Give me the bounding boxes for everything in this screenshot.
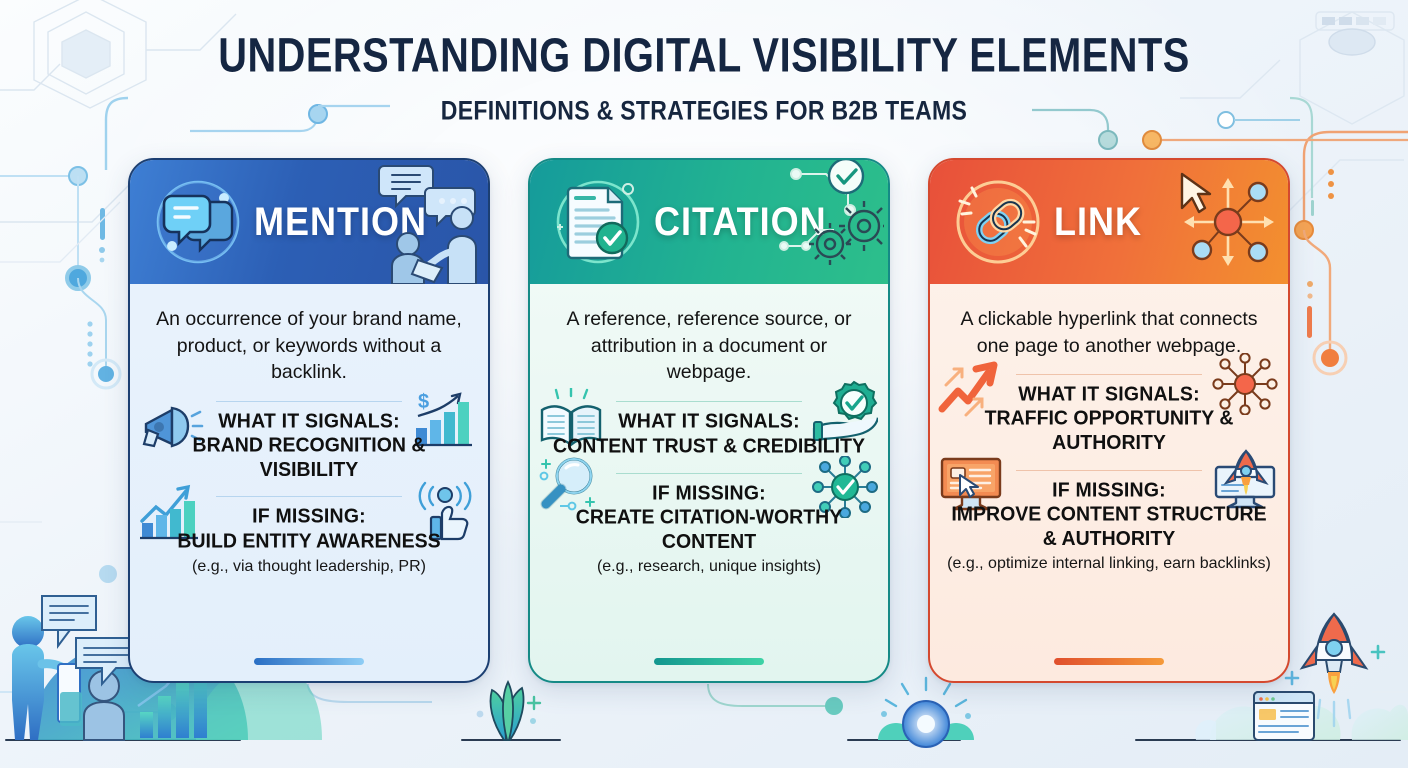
card-citation-accent-bar [654, 658, 764, 665]
card-link-missing-note: (e.g., optimize internal linking, earn b… [946, 554, 1272, 573]
divider [616, 401, 802, 402]
card-link-title: LINK [1054, 199, 1142, 245]
glowing-node-icon [878, 678, 974, 747]
right-circuit-trace [1290, 98, 1408, 692]
page-title: UNDERSTANDING DIGITAL VISIBILITY ELEMENT… [21, 28, 1387, 83]
card-mention-missing: IF MISSING: BUILD ENTITY AWARENESS (e.g.… [146, 505, 472, 576]
chat-bubble-icon [152, 176, 244, 268]
card-link-definition: A clickable hyperlink that connects one … [946, 306, 1272, 359]
divider [1016, 374, 1202, 375]
card-mention-missing-label: IF MISSING: [146, 505, 472, 529]
divider [1016, 470, 1202, 471]
card-mention-signals-label: WHAT IT SIGNALS: [146, 409, 472, 433]
card-citation-missing-note: (e.g., research, unique insights) [546, 557, 872, 576]
card-link-body: A clickable hyperlink that connects one … [930, 284, 1288, 681]
people-talking-icon [372, 160, 484, 284]
divider [616, 473, 802, 474]
card-citation-definition: A reference, reference source, or attrib… [546, 306, 872, 386]
chain-link-icon [952, 176, 1044, 268]
card-link-header: LINK [930, 160, 1288, 284]
card-citation-signals-label: WHAT IT SIGNALS: [546, 409, 872, 433]
card-mention-definition: An occurrence of your brand name, produc… [146, 306, 472, 386]
card-link-missing: IF MISSING: IMPROVE CONTENT STRUCTURE & … [946, 479, 1272, 573]
card-citation-signals: WHAT IT SIGNALS: CONTENT TRUST & CREDIBI… [546, 410, 872, 458]
network-gears-icon [772, 160, 884, 284]
card-mention-missing-value: BUILD ENTITY AWARENESS [146, 530, 472, 555]
card-link-missing-label: IF MISSING: [946, 478, 1272, 502]
card-citation[interactable]: CITATION [528, 158, 890, 683]
card-citation-missing-value: CREATE CITATION-WORTHY CONTENT [546, 506, 872, 555]
document-check-icon [552, 176, 644, 268]
card-citation-header: CITATION [530, 160, 888, 284]
divider [216, 401, 402, 402]
cards-container: MENTION An occurrence of your brand na [128, 158, 1290, 683]
cursor-network-icon [1172, 160, 1284, 284]
card-link-signals-label: WHAT IT SIGNALS: [946, 382, 1272, 406]
card-link-missing-value: IMPROVE CONTENT STRUCTURE & AUTHORITY [946, 503, 1272, 552]
card-mention-body: An occurrence of your brand name, produc… [130, 284, 488, 681]
card-mention-signals-value: BRAND RECOGNITION & VISIBILITY [146, 433, 472, 482]
card-link-signals: WHAT IT SIGNALS: TRAFFIC OPPORTUNITY & A… [946, 383, 1272, 455]
header: UNDERSTANDING DIGITAL VISIBILITY ELEMENT… [0, 28, 1408, 124]
card-mention-missing-note: (e.g., via thought leadership, PR) [146, 557, 472, 576]
card-citation-missing-label: IF MISSING: [546, 481, 872, 505]
divider [216, 496, 402, 497]
card-mention-header: MENTION [130, 160, 488, 284]
card-link[interactable]: LINK A clickable [928, 158, 1290, 683]
card-citation-missing: IF MISSING: CREATE CITATION-WORTHY CONTE… [546, 482, 872, 576]
page-subtitle: DEFINITIONS & STRATEGIES FOR B2B TEAMS [28, 96, 1380, 127]
card-mention-accent-bar [254, 658, 364, 665]
sprout-plant-icon [477, 682, 540, 740]
card-mention[interactable]: MENTION An occurrence of your brand na [128, 158, 490, 683]
card-mention-signals: $ WHAT IT SIGNALS: BRAND RECOGNITION & V… [146, 410, 472, 482]
card-link-accent-bar [1054, 658, 1164, 665]
card-citation-body: A reference, reference source, or attrib… [530, 284, 888, 681]
